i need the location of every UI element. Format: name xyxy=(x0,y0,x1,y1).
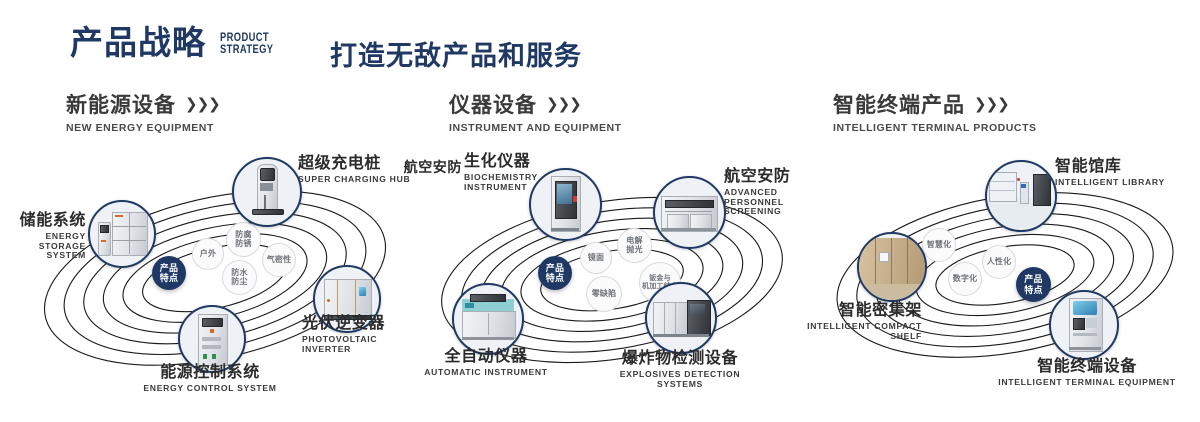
core-badge-line2: 特点 xyxy=(546,273,564,283)
caption-explosives-detection: 爆炸物检测设备 EXPLOSIVES DETECTION SYSTEMS xyxy=(600,350,760,389)
intelligent-library-photo xyxy=(987,162,1055,230)
explosives-detection-photo xyxy=(647,284,715,352)
core-badge-line2: 特点 xyxy=(1024,285,1042,295)
section-title-text: 智能终端产品 xyxy=(833,94,965,117)
product-node-super-charging-hub[interactable] xyxy=(232,157,302,227)
feature-bubble: 镜面 xyxy=(580,242,612,274)
caption-automatic-instrument: 全自动仪器 AUTOMATIC INSTRUMENT xyxy=(406,348,566,378)
core-badge-product-features: 产品 特点 xyxy=(1016,267,1051,302)
caption-energy-storage: 储能系统 ENERGY STORAGE SYSTEM xyxy=(0,212,86,261)
section-heading-cn: 仪器设备 ❯❯❯ xyxy=(449,94,622,117)
caption-biochemistry-instrument: 生化仪器 BIOCHEMISTRY INSTRUMENT xyxy=(464,153,540,192)
feature-bubble: 电解 抛光 xyxy=(617,228,652,263)
product-node-personnel-screening[interactable] xyxy=(653,176,726,249)
feature-bubble: 户外 xyxy=(192,238,224,270)
product-node-compact-shelf[interactable] xyxy=(857,232,927,302)
feature-bubble: 智慧化 xyxy=(922,228,956,262)
energy-control-photo xyxy=(180,307,244,371)
section-heading-en: NEW ENERGY EQUIPMENT xyxy=(66,122,220,134)
section-heading-new-energy: 新能源设备 ❯❯❯ NEW ENERGY EQUIPMENT xyxy=(66,94,220,134)
compact-shelf-photo xyxy=(859,234,925,300)
cluster-new-energy: 产品 特点 户外 防腐 防锈 防水 防尘 气密性 xyxy=(0,150,420,385)
product-node-explosives-detection[interactable] xyxy=(645,282,717,354)
cluster-instrument: 产品 特点 镜面 电解 抛光 零缺陷 钣金与 机加工结合 xyxy=(400,150,820,385)
chevron-right-icon: ❯❯❯ xyxy=(974,97,1009,114)
terminal-equipment-photo xyxy=(1051,292,1117,358)
section-heading-cn: 新能源设备 ❯❯❯ xyxy=(66,94,220,117)
product-node-terminal-equipment[interactable] xyxy=(1049,290,1119,360)
chevron-right-icon: ❯❯❯ xyxy=(185,97,220,114)
caption-compact-shelf: 智能密集架 INTELLIGENT COMPACT SHELF xyxy=(800,302,922,341)
section-heading-en: INSTRUMENT AND EQUIPMENT xyxy=(449,122,622,134)
automatic-instrument-photo xyxy=(454,285,522,353)
core-badge-line1: 产品 xyxy=(546,263,564,273)
energy-storage-photo xyxy=(90,202,154,266)
page-subtitle: 打造无敌产品和服务 xyxy=(330,34,582,73)
charging-hub-photo xyxy=(234,159,300,225)
section-heading-cn: 智能终端产品 ❯❯❯ xyxy=(833,94,1037,117)
feature-bubble: 防腐 防锈 xyxy=(226,222,261,257)
section-title-text: 仪器设备 xyxy=(449,94,537,117)
cluster-intelligent-terminal: 智慧化 人性化 数字化 产品 特点 智能馆库 xyxy=(800,150,1200,385)
caption-terminal-equipment: 智能终端设备 INTELLIGENT TERMINAL EQUIPMENT xyxy=(992,358,1182,388)
core-badge-line1: 产品 xyxy=(1024,274,1042,284)
caption-energy-control: 能源控制系统 ENERGY CONTROL SYSTEM xyxy=(110,364,310,394)
page-title-cn: 产品战略 xyxy=(70,26,206,59)
caption-super-charging-hub: 超级充电桩 SUPER CHARGING HUB xyxy=(298,155,410,185)
feature-bubble: 气密性 xyxy=(262,243,296,277)
product-node-energy-storage[interactable] xyxy=(88,200,156,268)
core-badge-line2: 特点 xyxy=(160,273,178,283)
biochemistry-photo xyxy=(531,170,600,239)
section-heading-instrument: 仪器设备 ❯❯❯ INSTRUMENT AND EQUIPMENT xyxy=(449,94,622,134)
caption-aviation-security-left: 航空安防 xyxy=(400,160,462,176)
core-badge-product-features: 产品 特点 xyxy=(152,256,186,290)
chevron-right-icon: ❯❯❯ xyxy=(546,97,581,114)
caption-intelligent-library: 智能馆库 INTELLIGENT LIBRARY xyxy=(1055,158,1165,188)
core-badge-product-features: 产品 特点 xyxy=(538,256,572,290)
product-node-automatic-instrument[interactable] xyxy=(452,283,524,355)
section-title-text: 新能源设备 xyxy=(66,94,176,117)
personnel-screening-photo xyxy=(655,178,724,247)
core-badge-line1: 产品 xyxy=(160,263,178,273)
section-heading-intelligent-terminal: 智能终端产品 ❯❯❯ INTELLIGENT TERMINAL PRODUCTS xyxy=(833,94,1037,134)
page-title-en: PRODUCT STRATEGY xyxy=(220,31,273,59)
feature-bubble: 人性化 xyxy=(982,245,1016,279)
feature-bubble: 零缺陷 xyxy=(586,276,622,312)
feature-bubble: 防水 防尘 xyxy=(222,260,257,295)
infographic-canvas: 产品战略 PRODUCT STRATEGY 打造无敌产品和服务 新能源设备 ❯❯… xyxy=(0,0,1200,422)
feature-bubble: 数字化 xyxy=(948,262,982,296)
page-title: 产品战略 PRODUCT STRATEGY xyxy=(70,26,288,59)
section-heading-en: INTELLIGENT TERMINAL PRODUCTS xyxy=(833,122,1037,134)
product-node-intelligent-library[interactable] xyxy=(985,160,1057,232)
product-node-energy-control[interactable] xyxy=(178,305,246,373)
